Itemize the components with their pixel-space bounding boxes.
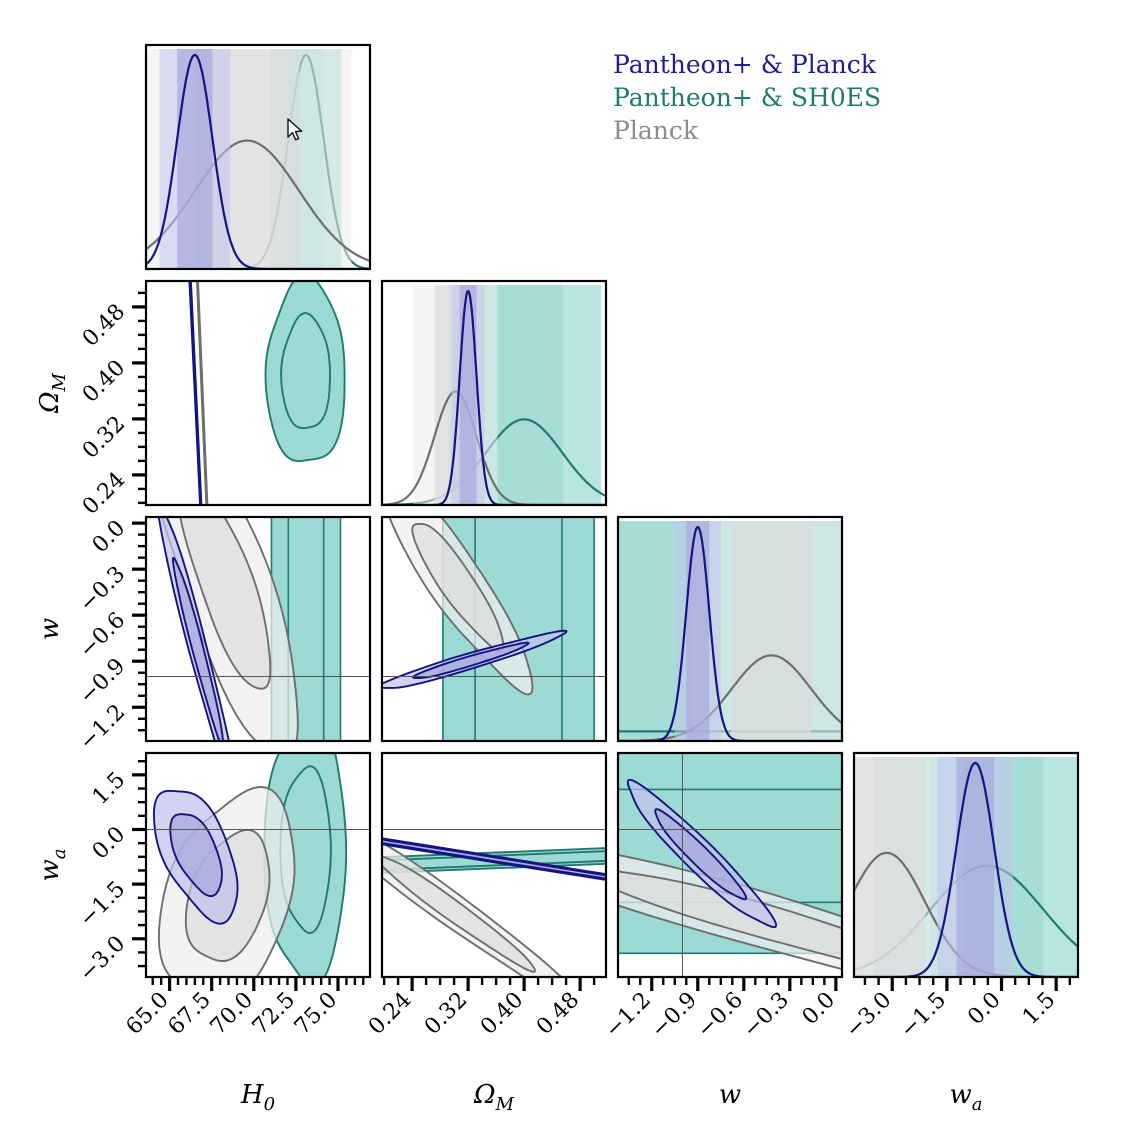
x-ticklabel: 0.48 [532,988,584,1040]
y-ticklabel: −3.0 [75,931,130,986]
y-ticklabel: 0.0 [88,822,130,864]
sub: a [972,1094,983,1115]
legend-entry-planck: Planck [613,114,881,147]
legend-entry-pantheon-shoes: Pantheon+ & SH0ES [613,81,881,114]
panel-2d-H0-w [146,400,370,808]
legend-entry-pantheon-planck: Pantheon+ & Planck [613,48,881,81]
x-ticklabel: 1.5 [1018,988,1060,1030]
credible-band [177,49,212,271]
y-axis-title-OmegaM: ΩM [35,372,70,414]
x-ticklabel: 0.32 [420,988,472,1040]
credible-band [686,521,709,743]
y-axis-title-w: w [35,618,65,640]
x-axis-title-wa: wa [950,1080,983,1115]
y-axis-title-wa: wa [35,849,70,882]
plot-canvas: 65.067.570.072.575.0H00.240.320.400.48ΩM… [0,0,1131,1139]
x-ticklabel: −1.2 [601,988,656,1043]
x-ticklabel: 0.0 [963,988,1005,1030]
panel-2d-OmegaM-w [378,488,606,746]
x-ticklabel: 65.0 [122,988,174,1040]
x-ticklabel: −0.3 [739,988,794,1043]
x-ticklabel: 72.5 [248,988,300,1040]
y-ticklabel: 0.48 [78,299,130,351]
panel-2d-H0-wa [146,713,370,1001]
x-ticklabel: −3.0 [841,988,896,1043]
x-ticklabel: 75.0 [290,988,342,1040]
panel-1d-H0 [143,49,370,271]
credible-band [732,521,812,743]
sub: M [49,372,70,392]
y-ticklabel: 0.40 [78,355,130,407]
y-ticklabel: −0.9 [75,654,130,709]
y-ticklabel: 0.0 [88,516,130,558]
contour-ellipse [374,855,535,972]
panel-1d-OmegaM [382,285,606,507]
y-ticklabel: 1.5 [88,767,130,809]
credible-band [956,757,994,979]
y-ticklabel: −0.3 [75,562,130,617]
x-ticklabel: −0.9 [647,988,702,1043]
mouse-pointer-icon [287,118,307,144]
y-ticklabel: −0.6 [75,608,130,663]
x-ticklabel: 0.40 [476,988,528,1040]
x-axis-title-w: w [719,1080,741,1110]
x-ticklabel: −0.6 [693,988,748,1043]
sub: M [495,1094,515,1115]
legend: Pantheon+ & Planck Pantheon+ & SH0ES Pla… [613,48,881,147]
y-ticklabel: 0.24 [78,467,130,519]
x-axis-title-H0: H0 [240,1080,275,1115]
credible-band [849,757,925,979]
x-ticklabel: 0.0 [798,988,840,1030]
corner-plot-figure: 65.067.570.072.575.0H00.240.320.400.48ΩM… [0,0,1131,1139]
x-ticklabel: −1.5 [896,988,951,1043]
sub: 0 [264,1094,275,1115]
y-ticklabel: 0.32 [78,411,130,463]
y-ticklabel: −1.5 [75,877,130,932]
credible-band [460,285,477,507]
x-ticklabel: 67.5 [164,988,216,1040]
x-ticklabel: 0.24 [364,988,416,1040]
x-axis-title-OmegaM: ΩM [473,1080,515,1115]
y-ticklabel: −1.2 [75,700,130,755]
sub: a [49,849,70,860]
x-ticklabel: 70.0 [206,988,258,1040]
